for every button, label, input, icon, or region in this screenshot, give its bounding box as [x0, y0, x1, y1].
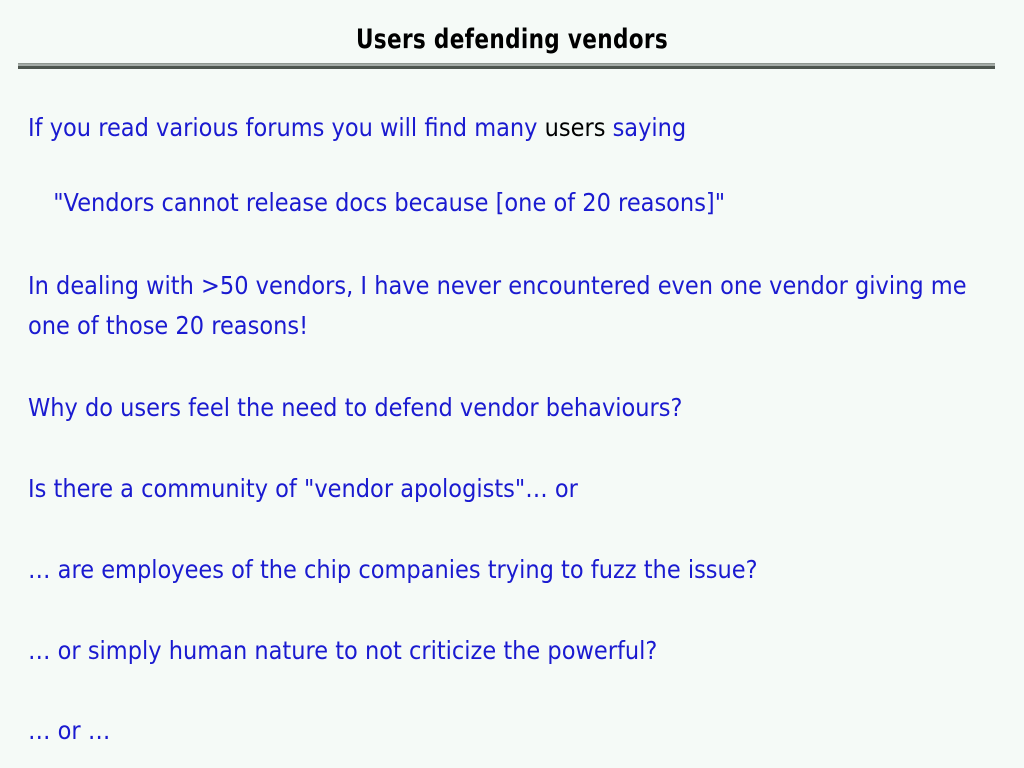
body-paragraph-5: Is there a community of "vendor apologis… [28, 469, 996, 509]
body-paragraph-3: In dealing with >50 vendors, I have neve… [28, 266, 996, 346]
presentation-slide: Users defending vendors If you read vari… [0, 0, 1024, 768]
body-paragraph-2-quote: "Vendors cannot release docs because [on… [28, 183, 1021, 223]
page-title: Users defending vendors [102, 24, 921, 55]
body-paragraph-8: … or … [28, 711, 996, 751]
title-divider-rule [18, 63, 995, 69]
body-paragraph-7: … or simply human nature to not criticiz… [28, 631, 996, 671]
body-paragraph-1-emphasis: users [545, 113, 606, 142]
body-paragraph-1: If you read various forums you will find… [28, 108, 996, 148]
slide-body: If you read various forums you will find… [28, 108, 996, 751]
body-paragraph-6: … are employees of the chip companies tr… [28, 550, 996, 590]
body-paragraph-4: Why do users feel the need to defend ven… [28, 388, 996, 428]
body-paragraph-1-part-c: saying [605, 113, 686, 142]
body-paragraph-1-part-a: If you read various forums you will find… [28, 113, 545, 142]
